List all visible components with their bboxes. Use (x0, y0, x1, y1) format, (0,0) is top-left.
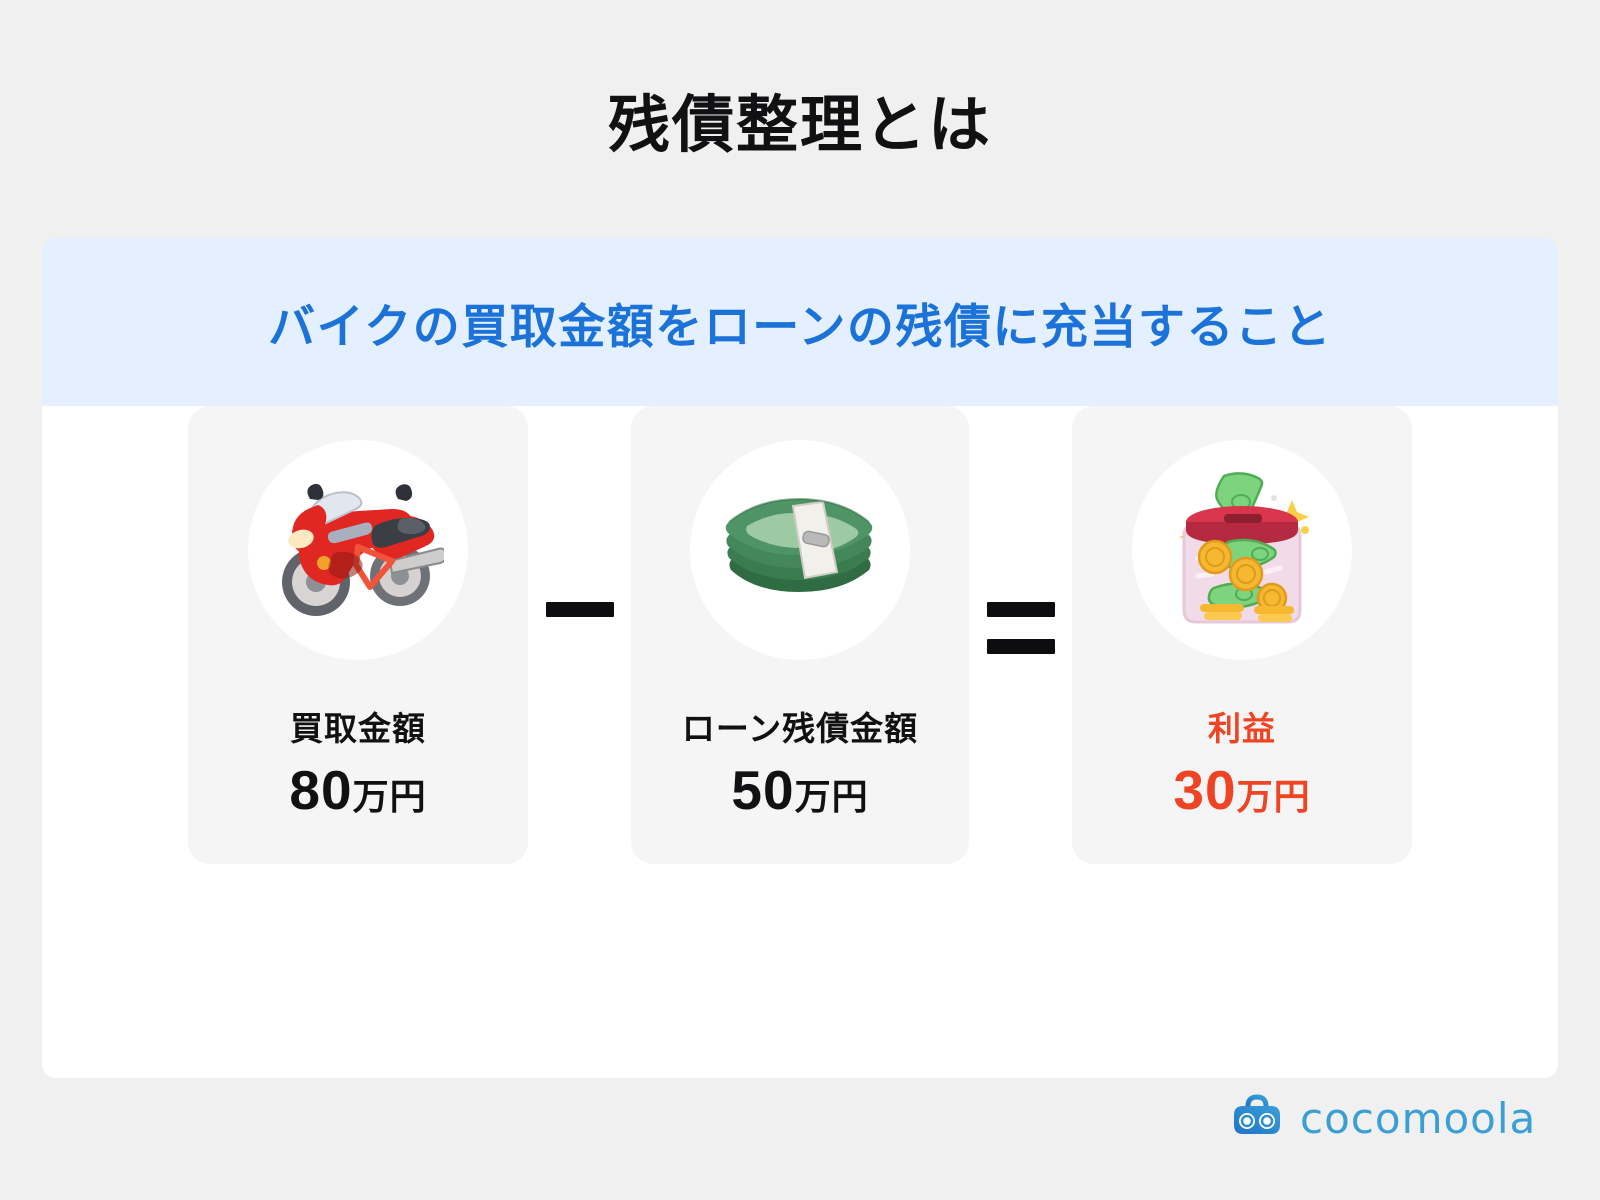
card-label: 利益 (1208, 702, 1276, 750)
card-amount-unit: 万円 (353, 768, 427, 820)
card-label: 買取金額 (290, 702, 426, 750)
money-bundle-icon (690, 440, 910, 660)
card-purchase-amount-wrap: 買取金額 80 万円 (188, 406, 528, 864)
card-label: ローン残債金額 (682, 702, 918, 750)
equals-icon (987, 602, 1055, 654)
minus-operator (528, 602, 631, 617)
card-amount-number: 30 (1173, 758, 1236, 822)
card-amount-unit: 万円 (1237, 768, 1311, 820)
brand-logo: cocomoola (1228, 1093, 1536, 1144)
card-profit-wrap: 利益 30 万円 (1072, 406, 1412, 864)
card-amount-number: 50 (731, 758, 794, 822)
infographic-page: 残債整理とは バイクの買取金額をローンの残債に充当すること (0, 0, 1600, 1200)
definition-banner-text: バイクの買取金額をローンの残債に充当すること (268, 288, 1332, 357)
calculation-row: 買取金額 80 万円 (42, 406, 1558, 1078)
card-amount: 50 万円 (731, 758, 868, 822)
definition-banner: バイクの買取金額をローンの残債に充当すること (42, 238, 1558, 406)
content-panel: バイクの買取金額をローンの残債に充当すること (42, 238, 1558, 1078)
card-amount-unit: 万円 (795, 768, 869, 820)
money-jar-icon (1132, 440, 1352, 660)
card-amount: 30 万円 (1173, 758, 1310, 822)
card-amount: 80 万円 (289, 758, 426, 822)
motorcycle-icon (248, 440, 468, 660)
card-amount-number: 80 (289, 758, 352, 822)
page-title: 残債整理とは (0, 74, 1600, 164)
minus-icon (546, 602, 614, 617)
equals-operator (969, 602, 1072, 654)
card-loan-balance-wrap: ローン残債金額 50 万円 (631, 406, 969, 864)
card-purchase-amount: 買取金額 80 万円 (188, 406, 528, 864)
cocomoola-mark-icon (1228, 1093, 1286, 1144)
card-profit: 利益 30 万円 (1072, 406, 1412, 864)
card-loan-balance: ローン残債金額 50 万円 (631, 406, 969, 864)
brand-logo-text: cocomoola (1300, 1094, 1536, 1143)
